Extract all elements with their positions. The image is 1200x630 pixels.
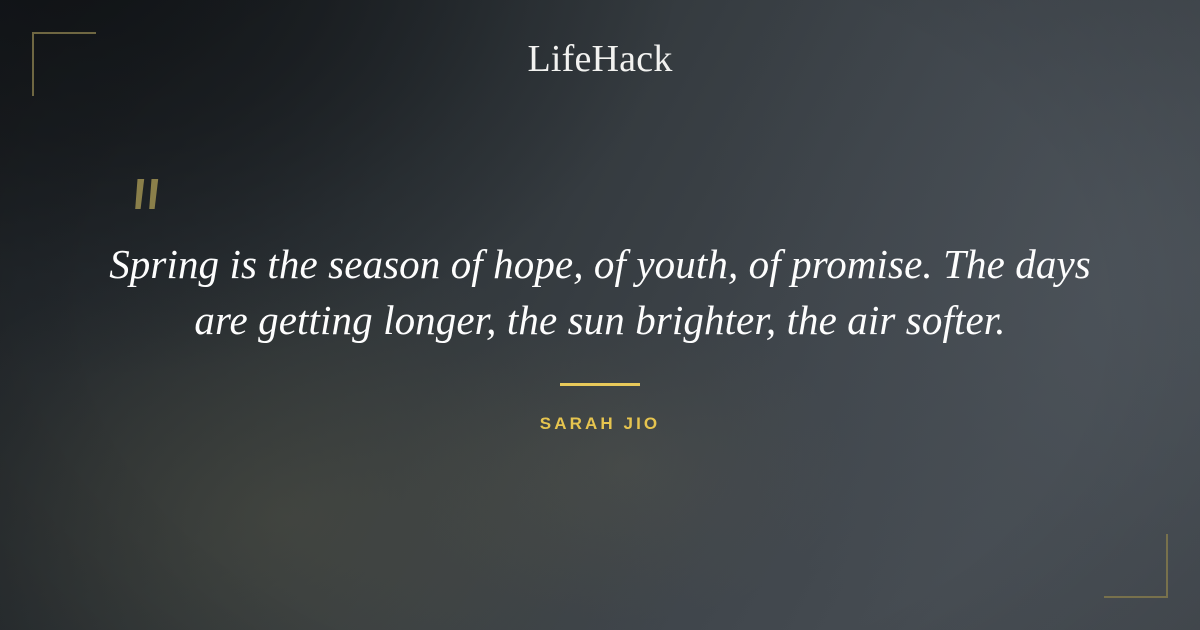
quote-block: Spring is the season of hope, of youth, … bbox=[60, 236, 1140, 348]
quote-line-2: are getting longer, the sun brighter, th… bbox=[60, 292, 1140, 348]
quote-author: SARAH JIO bbox=[0, 414, 1200, 434]
quote-card: LifeHack Spring is the season of hope, o… bbox=[0, 0, 1200, 630]
lifehack-logo: LifeHack bbox=[0, 40, 1200, 78]
corner-bracket-bottom-right-icon bbox=[1104, 534, 1168, 598]
gold-divider bbox=[560, 383, 640, 386]
quote-mark-icon bbox=[131, 178, 167, 218]
quote-line-1: Spring is the season of hope, of youth, … bbox=[60, 236, 1140, 292]
